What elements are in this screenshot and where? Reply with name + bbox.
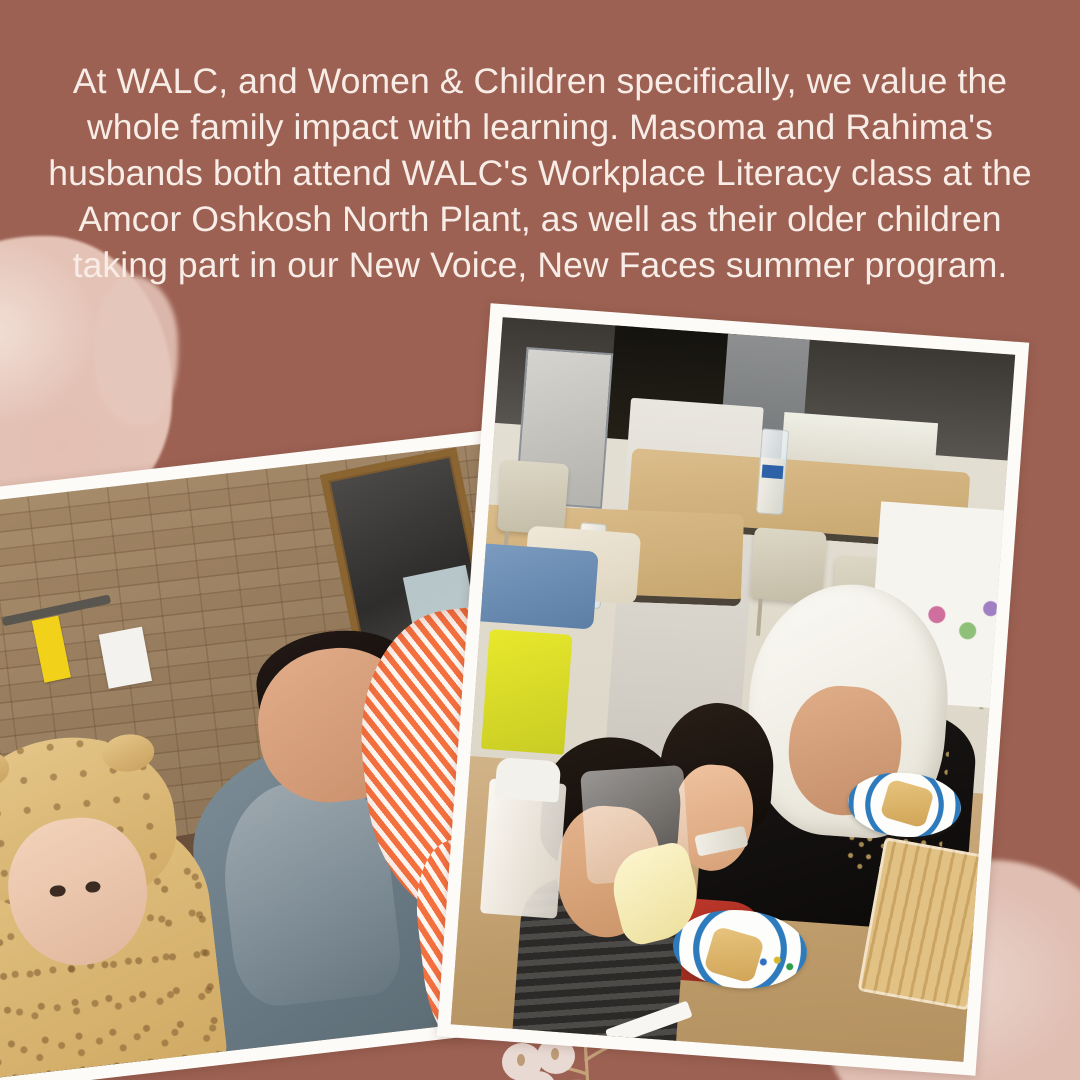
photo-right-image bbox=[451, 317, 1016, 1062]
baby-eye-left bbox=[50, 884, 66, 897]
scene-community-room bbox=[451, 317, 1016, 1062]
baby-hood-ear-right bbox=[101, 731, 156, 774]
photo-family-decorating-cookies bbox=[437, 303, 1029, 1076]
folded-jeans bbox=[460, 542, 599, 630]
candy-pieces bbox=[753, 947, 801, 979]
caption-text: At WALC, and Women & Children specifical… bbox=[0, 58, 1080, 288]
baby-eye-right bbox=[85, 880, 101, 893]
folding-chair-4 bbox=[497, 459, 569, 535]
sippy-cup bbox=[480, 778, 567, 918]
baby-hood-ear-left bbox=[0, 748, 11, 791]
social-post-canvas: At WALC, and Women & Children specifical… bbox=[0, 0, 1080, 1080]
